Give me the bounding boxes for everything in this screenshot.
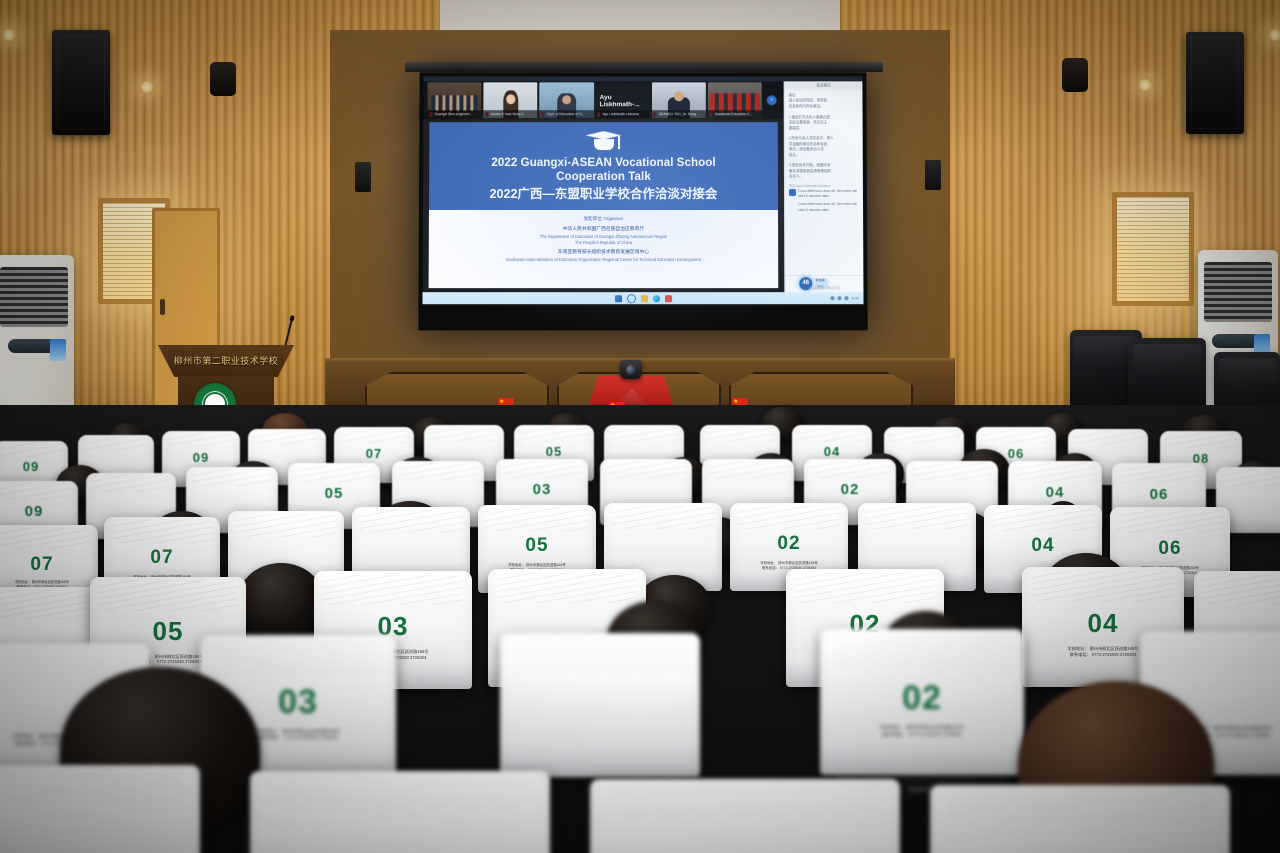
spotlight: [140, 80, 154, 94]
slide-title-en-line1: 2022 Guangxi-ASEAN Vocational School: [435, 157, 772, 171]
seat-number: 07: [334, 446, 414, 461]
chat-message-item: Good afternoon dear all, the event will …: [789, 202, 859, 213]
screen-mount-rail: [405, 62, 883, 72]
spotlight: [2, 28, 16, 42]
ceiling-light-can: [210, 62, 236, 96]
system-tray[interactable]: 11:35: [830, 296, 858, 300]
participant-display-name: Ayu Liskhmath-...: [600, 94, 650, 108]
chat-message-list[interactable]: 各位 进入会议的同志，请将会 议名称改为所在单位。 1.建议打开文化人摄像白宫 …: [785, 90, 864, 275]
avatar: [789, 189, 796, 196]
seat-cover: [930, 785, 1230, 853]
seat-cover: [0, 765, 200, 853]
seat[interactable]: [500, 633, 700, 777]
seat-number: 06: [1110, 538, 1230, 560]
seat-number: 07: [0, 554, 98, 576]
participant-name: Guangxi Sino engineeri...: [427, 110, 481, 118]
chat-sender-name: 来自 Ayu Liskhmath-Unkama: [789, 183, 859, 188]
spotlight: [1138, 78, 1152, 92]
participant-thumbnail[interactable]: Vocational Education C...: [708, 82, 762, 118]
chat-input[interactable]: 点击此处输入聊天内容: [789, 286, 859, 291]
search-icon[interactable]: [626, 294, 635, 303]
attendee-head: [238, 563, 324, 637]
chat-message-text: Good afternoon dear all, the event will …: [798, 202, 859, 213]
participant-thumbnail[interactable]: Dept. of Education of G...: [540, 82, 594, 118]
video-conference-window[interactable]: Guangxi Sino engineeri... Noorm K Hazi N…: [422, 76, 863, 304]
window-blinds: [1117, 197, 1189, 301]
seat-cover: [250, 771, 550, 853]
seat-number: 06: [1112, 486, 1206, 503]
seat-cover: [590, 779, 900, 853]
tray-icon[interactable]: [844, 296, 848, 300]
seat-number: 05: [288, 485, 380, 502]
seat[interactable]: [250, 771, 550, 853]
chat-message-item: Good afternoon dear all, the event will …: [789, 189, 859, 199]
ac-grille: [1204, 262, 1272, 322]
participant-thumbnail[interactable]: SEAMEO TED_Dr. Song...: [652, 82, 706, 118]
graduation-cap-icon: [586, 131, 622, 153]
start-icon[interactable]: [614, 295, 621, 302]
chat-panel-title: 会议聊天: [785, 81, 863, 90]
conference-hall-photo: Guangxi Sino engineeri... Noorm K Hazi N…: [0, 0, 1280, 853]
organizer-label: 发起单位 Organizer: [437, 216, 770, 222]
window-right: [1112, 192, 1194, 306]
wall-speaker-right: [925, 160, 941, 190]
participant-name: Ayu Liebhmath-Unkama: [596, 110, 650, 118]
seat-number: 07: [104, 547, 220, 569]
seat-number: 09: [0, 503, 78, 520]
tray-icon[interactable]: [837, 296, 841, 300]
seat-number: 02: [730, 533, 848, 555]
lectern-school-name: 柳州市第二职业技术学校: [158, 354, 294, 367]
chat-message-cn: 各位 进入会议的同志，请将会 议名称改为所在单位。 1.建议打开文化人摄像白宫 …: [789, 93, 859, 179]
ac-grille: [0, 267, 68, 327]
seat[interactable]: [0, 765, 200, 853]
participant-thumbnail[interactable]: Ayu Liskhmath-... Ayu Liebhmath-Unkama: [596, 82, 650, 118]
seat-number: 04: [792, 444, 872, 459]
organizer-1-cn: 中华人民共和国广西壮族自治区教育厅: [437, 227, 770, 234]
file-explorer-icon[interactable]: [640, 295, 647, 302]
chat-message-text: Good afternoon dear all, the event will …: [798, 189, 859, 199]
shared-screen-area: 2022 Guangxi-ASEAN Vocational School Coo…: [423, 119, 785, 292]
seat-number: 04: [1008, 484, 1102, 501]
seat-number: 03: [496, 481, 588, 498]
ceiling-speaker-right: [1186, 32, 1244, 134]
seat-cover: [500, 633, 700, 777]
seat-number: 02: [804, 481, 896, 498]
seat-number: 09: [0, 459, 68, 474]
seat-number: 05: [514, 444, 594, 459]
slide-title-en-line2: Cooperation Talk: [435, 171, 772, 185]
spotlight: [1268, 28, 1280, 42]
slide-title-cn: 2022广西—东盟职业学校合作洽淡对接会: [435, 186, 772, 202]
participant-thumbnail[interactable]: Guangxi Sino engineeri...: [427, 82, 481, 118]
tray-icon[interactable]: [830, 296, 834, 300]
app-icon[interactable]: [665, 295, 672, 302]
door-knob: [160, 299, 165, 315]
seat-cover-info: 学校地址： 柳州市柳北区跃进路168号 联系电话： 0772-2725030 2…: [832, 725, 1012, 739]
seat[interactable]: [590, 779, 900, 853]
organizer-2-cn: 东南亚教育部长组织技术教育发展区域中心: [437, 250, 770, 257]
room-shell: Guangxi Sino engineeri... Noorm K Hazi N…: [0, 0, 1280, 853]
chat-panel[interactable]: 会议聊天 各位 进入会议的同志，请将会 议名称改为所在单位。 1.建议打开文化人…: [784, 81, 864, 292]
participant-name: Vocational Education C...: [708, 110, 762, 118]
slide-body: 发起单位 Organizer 中华人民共和国广西壮族自治区教育厅 The Dep…: [429, 210, 779, 288]
participant-name: Noorm K Hazi Nora Li: [483, 110, 537, 118]
slide-header: 2022 Guangxi-ASEAN Vocational School Coo…: [429, 122, 778, 210]
seat-number: 02: [820, 679, 1024, 718]
participant-name: SEAMEO TED_Dr. Song...: [652, 110, 706, 118]
seat[interactable]: 02 学校地址： 柳州市柳北区跃进路168号 联系电话： 0772-272503…: [820, 629, 1024, 775]
projection-screen: Guangxi Sino engineeri... Noorm K Hazi N…: [418, 72, 867, 330]
chat-footer: 46 参会者 46人 点击此处输入聊天内容: [785, 275, 863, 292]
seat[interactable]: [930, 785, 1230, 853]
ceiling-speaker-left: [52, 30, 110, 135]
audience-seating: 09 09 07: [0, 405, 1280, 853]
seat-number: 09: [162, 450, 240, 465]
clock-time[interactable]: 11:35: [851, 296, 858, 300]
wall-speaker-left: [355, 162, 371, 192]
ac-label-sticker: [50, 339, 66, 361]
presentation-slide: 2022 Guangxi-ASEAN Vocational School Coo…: [429, 122, 779, 288]
filmstrip-next-button[interactable]: ›: [764, 82, 780, 118]
windows-taskbar[interactable]: 11:35: [422, 292, 863, 304]
chevron-right-icon: ›: [767, 95, 777, 105]
edge-browser-icon[interactable]: [653, 295, 660, 302]
participant-thumbnail[interactable]: Noorm K Hazi Nora Li: [483, 82, 537, 118]
seat-number: 05: [478, 535, 596, 557]
organizer-2-en: Southeast Asian Ministers of Education O…: [437, 257, 770, 263]
ceiling-light-can: [1062, 58, 1088, 92]
participant-filmstrip[interactable]: Guangxi Sino engineeri... Noorm K Hazi N…: [423, 81, 783, 119]
participant-name: Dept. of Education of G...: [540, 110, 594, 118]
ptz-camera-icon: [620, 360, 642, 379]
